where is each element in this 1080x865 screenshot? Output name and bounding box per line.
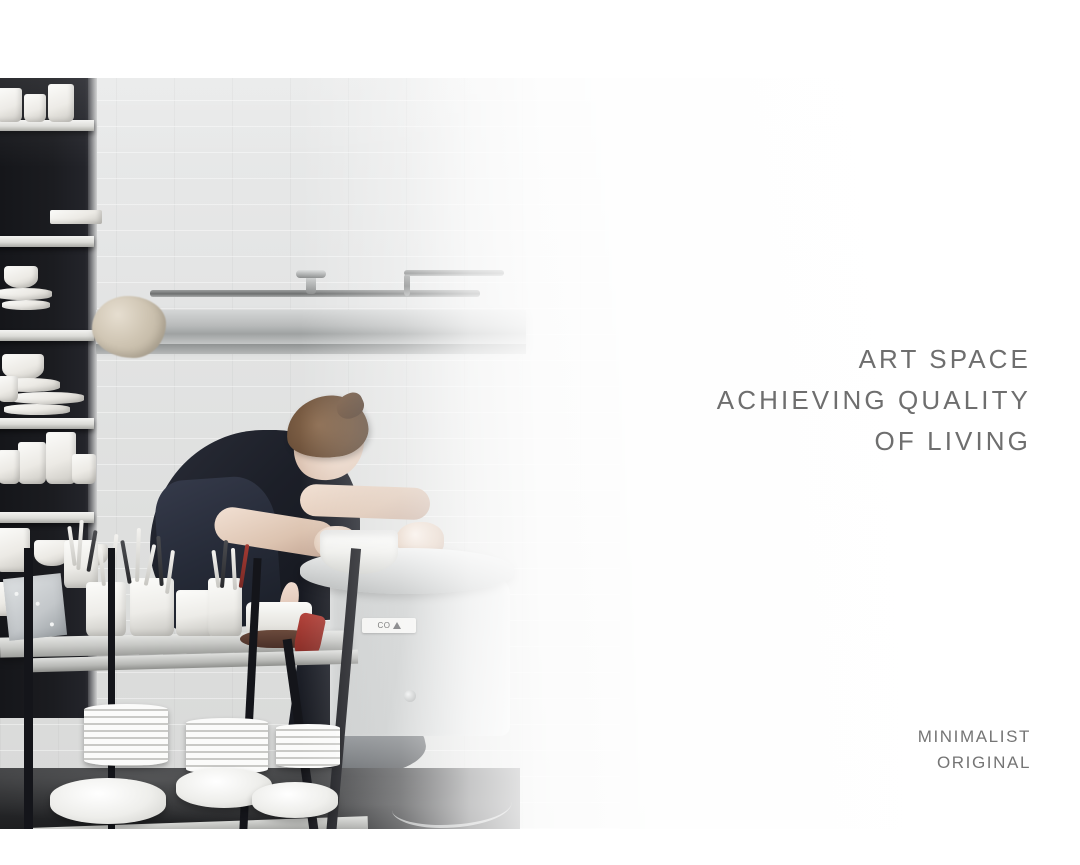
headline-line-2: ACHIEVING QUALITY: [717, 380, 1031, 421]
headline-line-1: ART SPACE: [717, 339, 1031, 380]
tagline-line-2: ORIGINAL: [918, 750, 1031, 776]
art-space-banner: CO: [0, 0, 1080, 865]
tagline: MINIMALIST ORIGINAL: [918, 724, 1031, 776]
headline-line-3: OF LIVING: [717, 421, 1031, 462]
tagline-line-1: MINIMALIST: [918, 724, 1031, 750]
page-title: ART SPACE ACHIEVING QUALITY OF LIVING: [717, 339, 1031, 462]
